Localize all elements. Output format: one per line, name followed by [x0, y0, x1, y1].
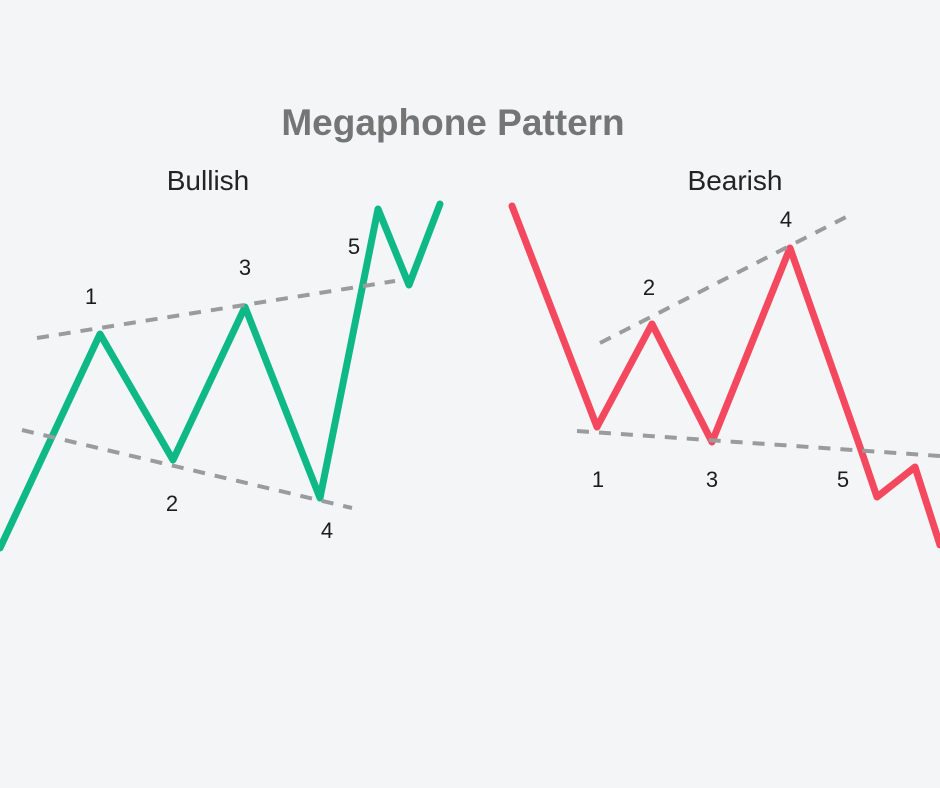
point-label-bearish-4: 4 — [780, 207, 792, 232]
point-label-bullish-3: 3 — [239, 255, 251, 280]
point-label-bearish-2: 2 — [643, 275, 655, 300]
point-label-bearish-5: 5 — [837, 467, 849, 492]
page-title: Megaphone Pattern — [281, 102, 624, 143]
point-label-bullish-5: 5 — [348, 234, 360, 259]
panel-title-bullish: Bullish — [167, 165, 249, 196]
point-label-bullish-2: 2 — [166, 491, 178, 516]
point-label-bullish-1: 1 — [85, 284, 97, 309]
point-label-bullish-4: 4 — [321, 518, 333, 543]
pattern-chart-svg: Megaphone Pattern Bullish Bearish 123451… — [0, 0, 940, 788]
panel-title-bearish: Bearish — [688, 165, 783, 196]
megaphone-pattern-figure: Megaphone Pattern Bullish Bearish 123451… — [0, 0, 940, 788]
point-label-bearish-3: 3 — [706, 467, 718, 492]
point-label-bearish-1: 1 — [592, 467, 604, 492]
